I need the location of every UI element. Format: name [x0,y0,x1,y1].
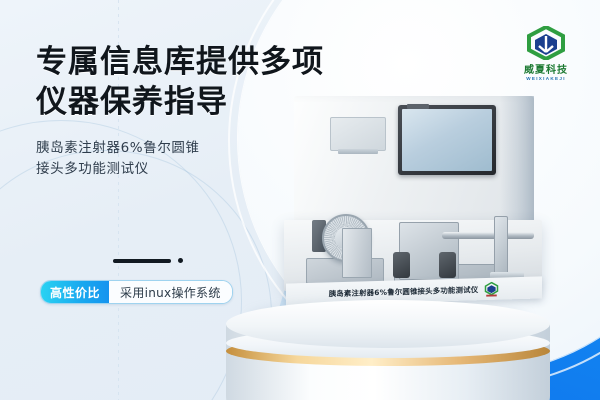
machine-rod [442,232,534,239]
title-line-2: 仪器保养指导 [36,82,336,122]
company-logo-icon [526,26,566,60]
brand-logo: 威夏科技 WEIXIAKEJI [505,26,587,81]
feature-badge: 高性价比 采用inux操作系统 [40,280,233,304]
caption-company-logo-icon [484,281,499,296]
product-caption-text: 胰岛素注射器6%鲁尔圆锥接头多功能测试仪 [329,284,479,299]
subtitle-block: 胰岛素注射器6%鲁尔圆锥 接头多功能测试仪 [36,138,246,180]
screen-brand-bar [407,104,429,109]
display-pedestal [226,300,550,400]
machine-plate [330,117,386,151]
divider-dot [178,258,183,263]
machine-knob [393,252,410,278]
headline-block: 专属信息库提供多项 仪器保养指导 胰岛素注射器6%鲁尔圆锥 接头多功能测试仪 [36,42,336,180]
decorative-divider [113,258,183,263]
badge-tag-label: 高性价比 [41,281,109,303]
machine-knob [439,252,456,278]
screen-lcd [402,109,492,171]
subtitle-line-1: 胰岛素注射器6%鲁尔圆锥 [36,138,246,159]
divider-bar [113,259,171,263]
brand-name-cn: 威夏科技 [505,61,587,76]
machine-touchscreen [398,105,496,175]
product-machine: 胰岛素注射器6%鲁尔圆锥接头多功能测试仪 [294,96,534,291]
promo-poster: 威夏科技 WEIXIAKEJI 专属信息库提供多项 仪器保养指导 胰岛素注射器6… [0,0,600,400]
badge-note-label: 采用inux操作系统 [109,281,232,303]
pedestal-top-surface [226,300,550,348]
title-line-1: 专属信息库提供多项 [36,42,336,82]
machine-arm-right [494,216,508,280]
machine-support-block [342,228,372,278]
brand-name-en: WEIXIAKEJI [505,76,587,81]
subtitle-line-2: 接头多功能测试仪 [36,159,246,180]
